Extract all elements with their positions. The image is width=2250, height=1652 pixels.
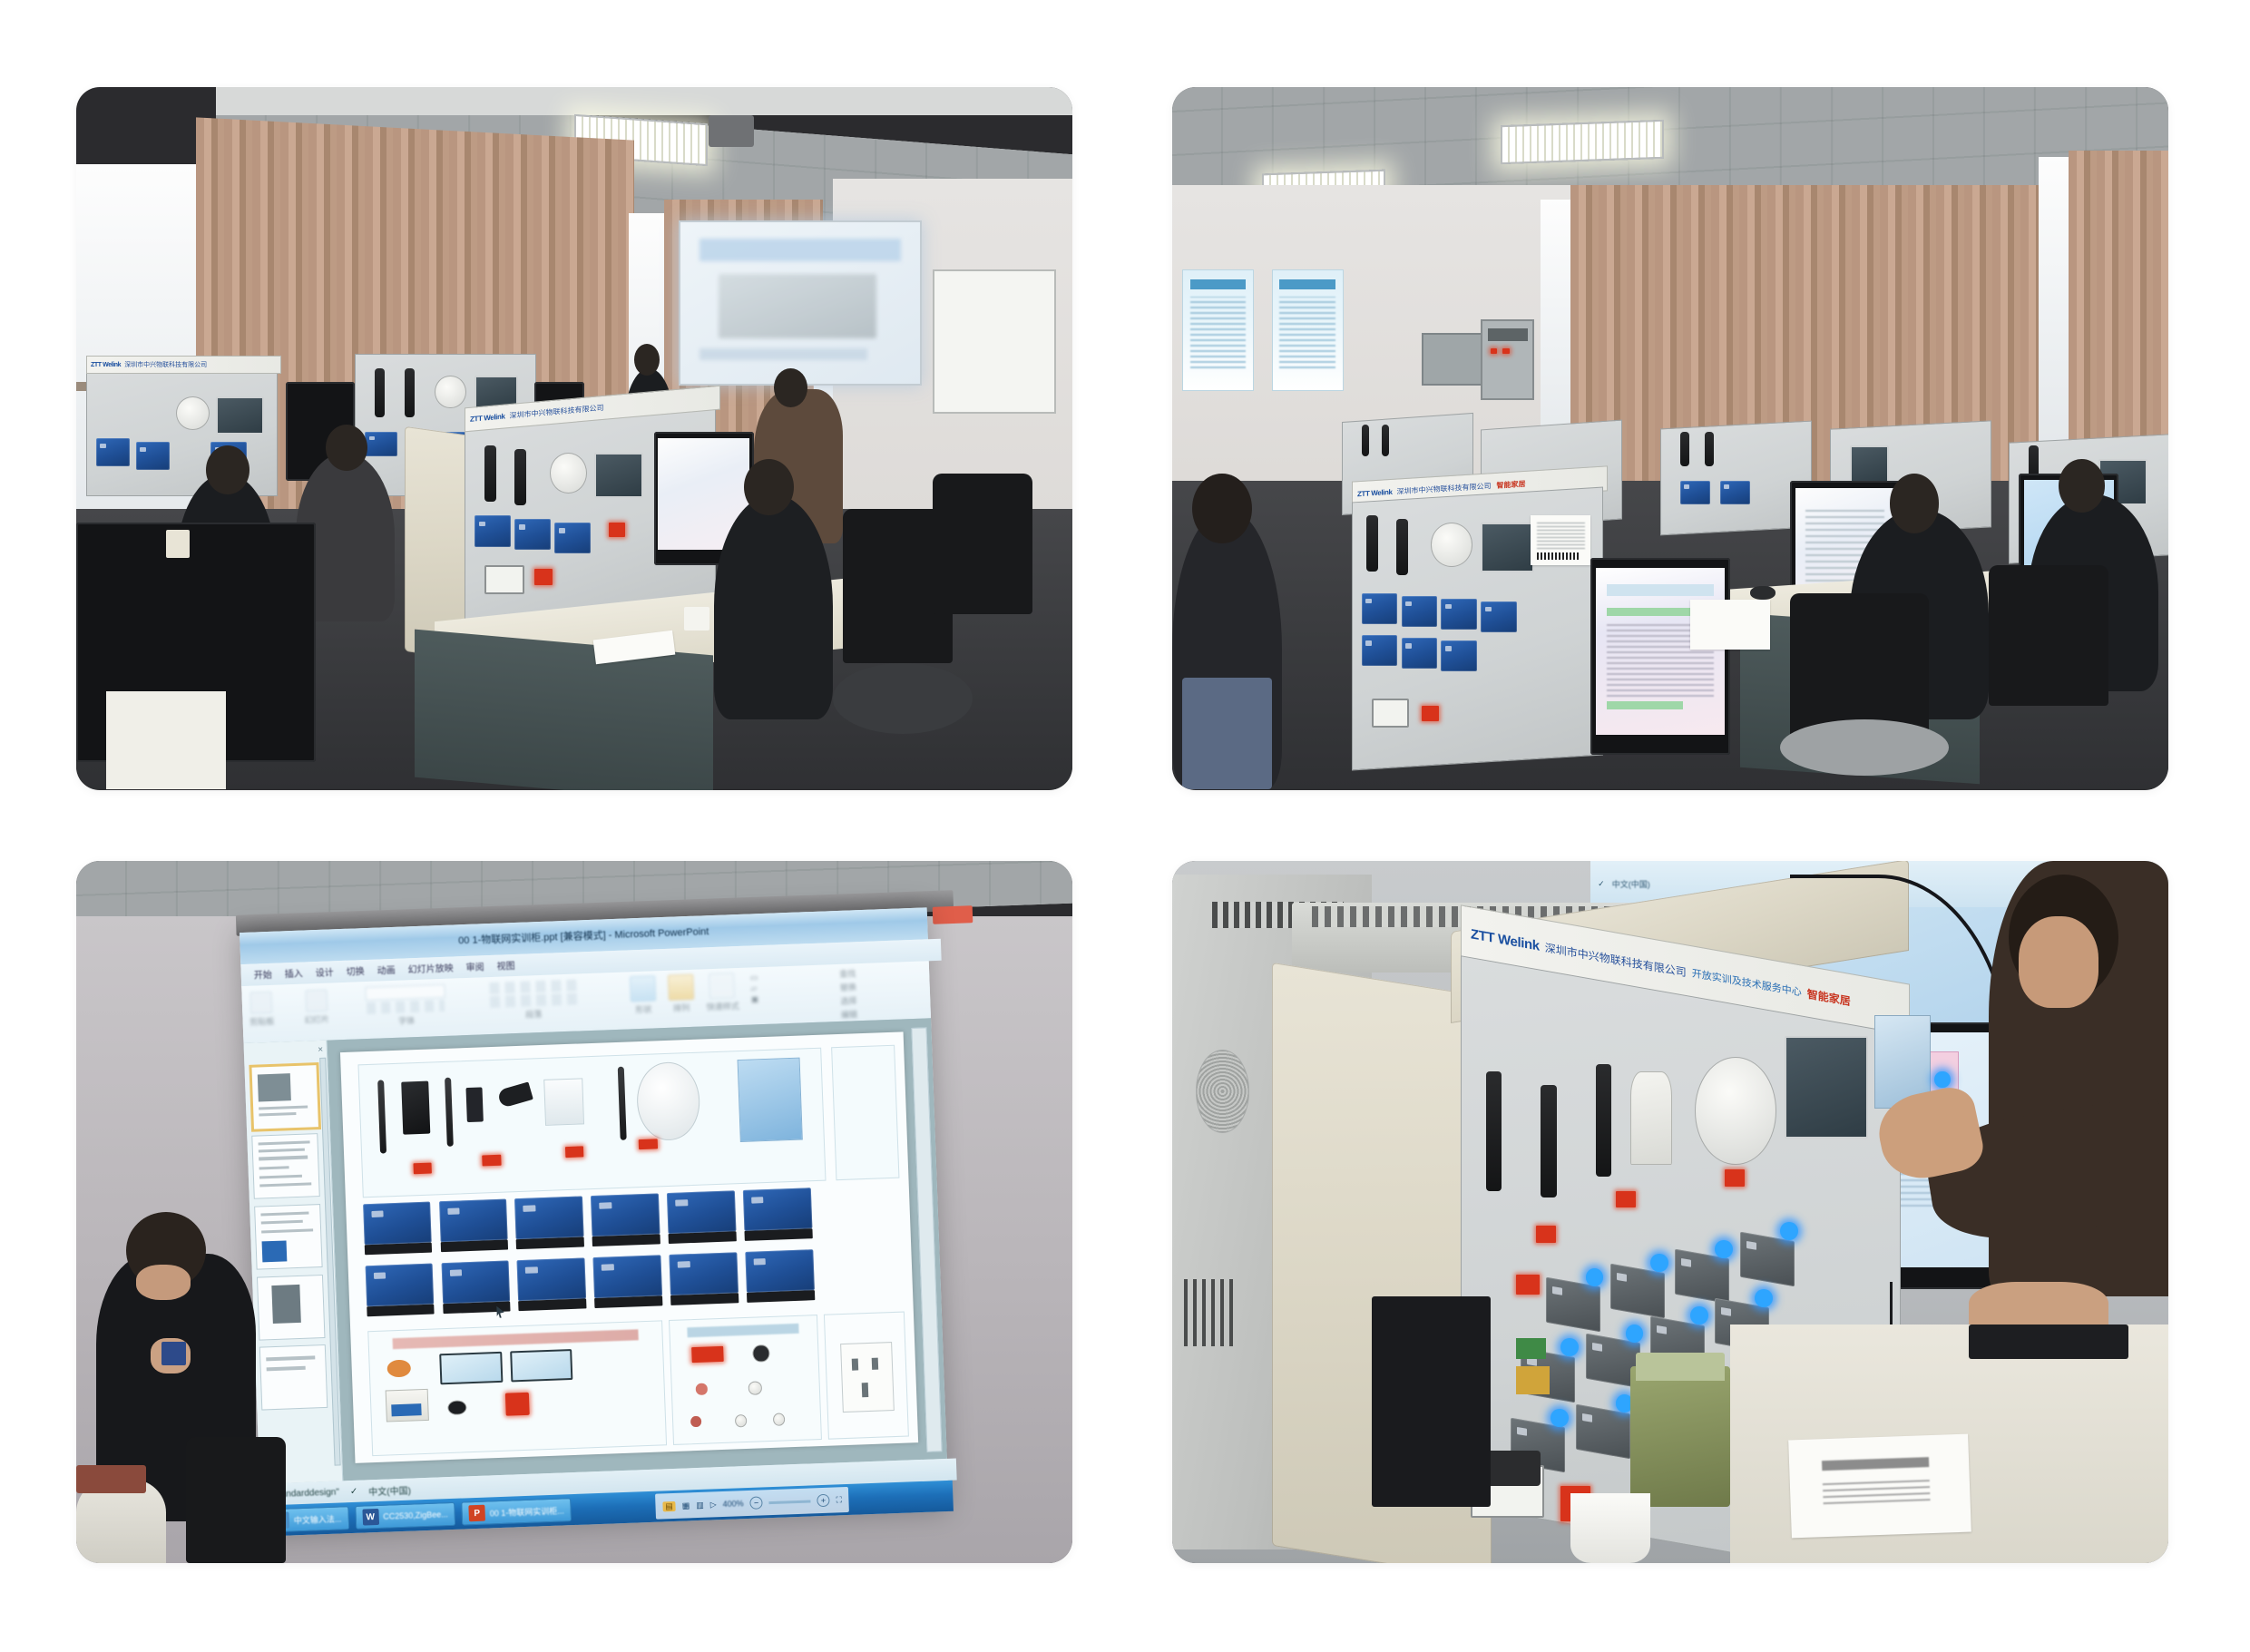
- led-indicator: [1780, 1222, 1798, 1240]
- thumbnail-image: [271, 1285, 301, 1324]
- digital-display: [691, 1346, 724, 1364]
- slide-socket-section: [824, 1312, 909, 1440]
- ribbon-button-arrange: 排列: [668, 974, 695, 1014]
- person-head: [1890, 474, 1940, 533]
- vent-slots: [1184, 1279, 1236, 1346]
- antenna-icon: [377, 1080, 386, 1154]
- thumbnail-text-line: [259, 1183, 311, 1188]
- sensor-module: [517, 1257, 586, 1301]
- wall-socket-icon: [840, 1343, 895, 1413]
- cabinet-lcd[interactable]: [594, 453, 644, 498]
- thumbnail-text-line: [259, 1141, 310, 1146]
- scene-projection-powerpoint: 00 1-物联网实训柜.ppt [兼容模式] - Microsoft Power…: [76, 861, 1072, 1564]
- cabinet-lcd[interactable]: [1850, 445, 1890, 484]
- antenna-icon: [375, 368, 385, 417]
- projection-screen: [679, 220, 922, 386]
- sensor-module[interactable]: [1402, 596, 1438, 627]
- thumbnail-text-line: [259, 1149, 305, 1153]
- brand-company: 深圳市中兴物联科技有限公司: [124, 360, 207, 369]
- poster-title: [1279, 279, 1335, 290]
- module-base: [745, 1229, 813, 1242]
- taskbar-item-label: CC2530,ZigBee...: [383, 1510, 448, 1521]
- office-chair: [933, 474, 1032, 614]
- slide-thumbnail[interactable]: [252, 1133, 320, 1199]
- monitor-screen: [1596, 568, 1724, 735]
- ceiling-light: [1501, 120, 1664, 164]
- led-indicator: [1650, 1254, 1668, 1272]
- smoke-detector-icon: [1695, 1057, 1776, 1164]
- module-marker: [1516, 1338, 1546, 1359]
- scene-lab-rows: ZTT Welink 深圳市中兴物联科技有限公司 智能家居: [1172, 87, 2168, 790]
- white-antenna-icon: [1630, 1071, 1672, 1165]
- wall-poster-right: [1272, 269, 1344, 391]
- new-slide-icon[interactable]: [305, 990, 328, 1012]
- led-indicator: [1725, 1169, 1745, 1187]
- photo-bottom-left[interactable]: 00 1-物联网实训柜.ppt [兼容模式] - Microsoft Power…: [76, 861, 1072, 1564]
- photo-top-right[interactable]: ZTT Welink 深圳市中兴物联科技有限公司 智能家居: [1172, 87, 2168, 790]
- module-marker: [1516, 1366, 1550, 1394]
- ribbon-button-label: 形状: [635, 1002, 651, 1015]
- ribbon-button-quickstyles: 快速样式: [706, 973, 740, 1012]
- thumbnail-text-line: [259, 1156, 308, 1160]
- sensor-module[interactable]: [1441, 640, 1477, 671]
- person-jeans: [1182, 678, 1272, 790]
- ribbon-group-paragraph: 段落: [489, 980, 578, 1022]
- knob-icon: [735, 1414, 748, 1428]
- sensor-module[interactable]: [1402, 638, 1438, 669]
- white-panel-icon: [544, 1079, 585, 1127]
- label-card: [1531, 515, 1590, 564]
- tab-review[interactable]: 审阅: [465, 960, 484, 974]
- sensor-module: [745, 1249, 814, 1293]
- antenna-icon: [405, 368, 415, 417]
- led-indicator: [413, 1163, 432, 1174]
- tab-insert[interactable]: 插入: [285, 966, 304, 981]
- touch-panel-icon: [738, 1058, 803, 1143]
- ribbon-group-label: 字体: [398, 1014, 415, 1027]
- poster-body: [1190, 297, 1246, 368]
- ribbon-group-label: 幻灯片: [305, 1013, 329, 1026]
- ribbon-group-label: 剪贴板: [249, 1015, 274, 1028]
- knob-icon: [748, 1382, 762, 1395]
- sensor-module[interactable]: [1362, 593, 1398, 624]
- analog-meter: [484, 565, 524, 594]
- ribbon-button-label: 排列: [673, 1002, 690, 1014]
- sensor-module[interactable]: [1362, 635, 1398, 666]
- status-ime: 中文(中国): [1612, 878, 1650, 890]
- document-sheet: [1788, 1433, 1971, 1538]
- led-indicator: [1586, 1268, 1604, 1286]
- slide-thumbnail[interactable]: [258, 1275, 326, 1341]
- indicator-lamp: [696, 1383, 708, 1395]
- antenna-icon: [514, 449, 526, 505]
- ribbon-group-label: 段落: [525, 1008, 542, 1021]
- label-text: [1537, 522, 1585, 549]
- status-ime[interactable]: 中文(中国): [368, 1483, 411, 1499]
- cabinet-brandbar-rear-left: ZTT Welink 深圳市中兴物联科技有限公司: [86, 356, 281, 375]
- led-indicator: [1516, 1275, 1540, 1295]
- person-face: [2019, 916, 2098, 1008]
- slide-thumbnail[interactable]: [255, 1204, 323, 1270]
- ribbon-button-replace[interactable]: 替换: [840, 982, 856, 994]
- thumbnail-text-line: [259, 1106, 308, 1110]
- sensor-module: [743, 1188, 812, 1231]
- shape-effects-row[interactable]: ▣: [751, 994, 759, 1005]
- taskbar-item-label: 中文输入法...: [294, 1512, 342, 1526]
- language-icon: ✓: [350, 1487, 358, 1497]
- chair-back: [76, 1465, 146, 1493]
- sensor-module: [441, 1260, 510, 1304]
- curtain: [2069, 151, 2168, 467]
- led-indicator: [639, 1139, 658, 1149]
- projection-screen: 00 1-物联网实训柜.ppt [兼容模式] - Microsoft Power…: [240, 908, 949, 1537]
- antenna-icon: [1596, 1064, 1612, 1177]
- module-base: [365, 1243, 433, 1256]
- brand-latin: ZTT Welink: [470, 412, 505, 423]
- knob-icon: [447, 1400, 467, 1416]
- thumbnail-text-line: [261, 1211, 309, 1216]
- module-base: [592, 1235, 660, 1247]
- tab-view[interactable]: 视图: [496, 958, 515, 973]
- view-slideshow-icon[interactable]: ▷: [710, 1500, 717, 1510]
- water-bottle: [1630, 1366, 1730, 1507]
- shapes-icon[interactable]: [630, 975, 656, 1002]
- antenna-icon: [1486, 1071, 1502, 1191]
- led-indicator: [534, 569, 553, 586]
- slide-side-strip: [831, 1045, 900, 1180]
- wall-poster-left: [1182, 269, 1254, 391]
- antenna-icon: [445, 1078, 454, 1146]
- thumbnail-text-line: [259, 1112, 297, 1117]
- taskbar-item-powerpoint[interactable]: P 00 1-物联网实训柜...: [461, 1498, 572, 1526]
- chair-base: [833, 663, 973, 733]
- socket-hole: [872, 1358, 878, 1371]
- slide-thumbnail[interactable]: [249, 1062, 322, 1132]
- poster-title: [1190, 279, 1246, 290]
- antenna-icon: [618, 1067, 627, 1140]
- sensor-module: [515, 1197, 584, 1240]
- monitor-center[interactable]: [1590, 558, 1730, 755]
- led-indicator: [565, 1147, 584, 1158]
- slide-control-section-right: [669, 1315, 821, 1445]
- slide-thumbnail-pane[interactable]: ×: [244, 1041, 344, 1484]
- zoom-in-button[interactable]: +: [817, 1494, 830, 1508]
- whiteboard: [933, 269, 1056, 414]
- smoke-detector-icon: [1431, 523, 1472, 566]
- sensor-module[interactable]: [1441, 599, 1477, 630]
- person-face: [136, 1265, 191, 1300]
- antenna-icon: [1366, 515, 1378, 572]
- socket-hole: [862, 1383, 869, 1398]
- panel-display: [1488, 328, 1528, 341]
- screen-toolbar: [1607, 584, 1715, 596]
- sensor-module: [365, 1263, 434, 1306]
- view-sorter-icon[interactable]: ▦: [682, 1500, 690, 1510]
- ribbon-drawing-tools: ▭ ▱ ▣: [750, 973, 759, 1005]
- projection-slide-image: [719, 274, 876, 338]
- led-indicator: [1755, 1289, 1773, 1307]
- sensor-module[interactable]: [474, 515, 511, 546]
- tab-home[interactable]: 开始: [254, 967, 273, 982]
- person-head: [326, 425, 367, 471]
- module-base: [516, 1237, 584, 1250]
- paper-sheet: [1690, 600, 1770, 649]
- knob-icon: [773, 1413, 786, 1426]
- led-indicator: [609, 523, 625, 536]
- view-zoom-controls[interactable]: ▤ ▦ ▥ ▷ 400% − + ⛶: [655, 1487, 850, 1520]
- zoom-slider[interactable]: [769, 1500, 811, 1504]
- bent-antenna-icon: [496, 1082, 533, 1109]
- monitor-foreground[interactable]: [1372, 1296, 1492, 1507]
- sensor-module: [667, 1190, 736, 1234]
- section-title-right: [688, 1324, 799, 1337]
- paragraph-buttons-row1[interactable]: [489, 980, 576, 995]
- breaker-toggle: [392, 1404, 422, 1416]
- ribbon-group-label: 编辑: [841, 1009, 857, 1022]
- brand-company: 深圳市中兴物联科技有限公司: [510, 403, 604, 421]
- scene-cabinet-operation: ✓ 中文(中国) W CC2530,ZigBee...: [1172, 861, 2168, 1564]
- document-title: [1821, 1457, 1929, 1471]
- emergency-stop-button: [505, 1393, 530, 1415]
- person-head: [744, 459, 794, 515]
- screen-end-cap: [933, 905, 973, 924]
- sensor-module[interactable]: [554, 523, 591, 553]
- sensor-module[interactable]: [1680, 481, 1710, 504]
- module-base: [670, 1293, 739, 1305]
- view-reading-icon[interactable]: ▥: [696, 1500, 704, 1510]
- display-panel: [510, 1349, 573, 1382]
- led-indicator: [1715, 1240, 1733, 1258]
- person-head: [1192, 474, 1252, 543]
- zoom-out-button[interactable]: −: [750, 1497, 764, 1510]
- brand-badge: 智能家居: [1496, 479, 1525, 491]
- paper-cup: [684, 607, 710, 630]
- antenna-icon: [1396, 519, 1408, 575]
- antenna-icon: [1362, 425, 1370, 456]
- poster-body: [1279, 297, 1335, 368]
- quick-styles-icon[interactable]: [709, 973, 736, 999]
- chair-base: [1780, 719, 1950, 776]
- sensor-module[interactable]: [365, 432, 396, 457]
- taskbar-item-label: 00 1-物联网实训柜...: [490, 1504, 564, 1519]
- ribbon-button-select[interactable]: 选择: [840, 995, 856, 1008]
- ceiling-edge: [216, 87, 1072, 115]
- module-box-icon: [465, 1088, 484, 1122]
- person-seated-front: [714, 494, 834, 719]
- section-title-left: [392, 1330, 639, 1350]
- sensor-module: [593, 1255, 662, 1298]
- thumbnail-image: [262, 1241, 288, 1263]
- sensor-module: [363, 1202, 432, 1246]
- paragraph-buttons-row2[interactable]: [490, 993, 577, 1009]
- person-head: [774, 368, 807, 407]
- tab-slideshow[interactable]: 幻灯片放映: [408, 961, 455, 976]
- bottle-cap: [1636, 1353, 1726, 1381]
- cabinet-lcd[interactable]: [216, 396, 264, 435]
- indicator-lamp: [690, 1416, 701, 1428]
- editing-area: ×: [244, 1018, 947, 1484]
- led-indicator: [482, 1155, 501, 1166]
- module-base: [747, 1290, 815, 1303]
- led-indicator: [1690, 1306, 1708, 1325]
- led-indicator: [1422, 706, 1440, 721]
- zoom-level-label: 400%: [723, 1500, 744, 1510]
- brand-subtitle: 开放实训及技术服务中心: [1692, 966, 1802, 1000]
- cabinet-dial[interactable]: [550, 453, 588, 494]
- thumbnail-text-line: [261, 1220, 302, 1225]
- desk-foreground: [106, 691, 226, 789]
- thumbnail-image: [258, 1074, 291, 1102]
- brand-latin: ZTT Welink: [1471, 926, 1540, 953]
- sensor-module: [591, 1193, 660, 1237]
- scene-classroom-projector: ZTT Welink 深圳市中兴物联科技有限公司: [76, 87, 1072, 790]
- ribbon-group-slides: 幻灯片: [304, 990, 329, 1026]
- projection-caption-line: [699, 348, 866, 359]
- fit-to-window-icon[interactable]: ⛶: [836, 1495, 843, 1505]
- analog-meter: [1372, 699, 1409, 728]
- thumbnail-text-line: [267, 1366, 306, 1371]
- shape-outline-row[interactable]: ▱: [750, 983, 758, 994]
- office-chair: [186, 1437, 286, 1563]
- module-base: [595, 1295, 663, 1308]
- thumbnail-text-line: [261, 1228, 313, 1233]
- arrange-icon[interactable]: [668, 974, 694, 1001]
- smoke-detector-icon: [636, 1061, 700, 1141]
- font-style-buttons[interactable]: [367, 1000, 445, 1014]
- ribbon-button-label: 快速样式: [707, 1000, 739, 1012]
- module-base: [519, 1299, 587, 1312]
- word-icon: W: [362, 1509, 379, 1526]
- barcode-icon: [1537, 552, 1579, 561]
- thumbnail-text-line: [267, 1356, 316, 1361]
- antenna-icon: [1705, 432, 1714, 467]
- led-indicator: [1616, 1191, 1636, 1208]
- thumbnail-text-line: [259, 1175, 302, 1179]
- socket-hole: [852, 1359, 858, 1372]
- clipboard-icon[interactable]: [250, 992, 273, 1014]
- office-chair: [1989, 565, 2108, 706]
- brand-latin: ZTT Welink: [91, 362, 121, 368]
- window-title: 00 1-物联网实训柜.ppt [兼容模式] - Microsoft Power…: [458, 924, 709, 948]
- projection-title-line: [699, 239, 900, 261]
- ribbon-group-editing: 查找 替换 选择 编辑: [839, 968, 857, 1022]
- person-head: [206, 445, 249, 494]
- led-indicator: [1551, 1409, 1569, 1427]
- knob-icon: [753, 1344, 770, 1363]
- slide-thumbnail[interactable]: [259, 1345, 328, 1412]
- speaker-grille-icon: [1196, 1050, 1249, 1132]
- sensor-module[interactable]: [514, 519, 551, 550]
- sensor-module[interactable]: [1720, 481, 1750, 504]
- tab-transitions[interactable]: 切换: [347, 964, 366, 979]
- photo-top-left[interactable]: ZTT Welink 深圳市中兴物联科技有限公司: [76, 87, 1072, 790]
- document-body: [1822, 1476, 1930, 1503]
- view-normal-icon[interactable]: ▤: [662, 1501, 676, 1512]
- led-indicator: [1536, 1226, 1556, 1243]
- led-indicator: [1626, 1325, 1644, 1343]
- person-head: [2059, 459, 2105, 513]
- sensor-module[interactable]: [1481, 601, 1517, 632]
- display-panel: [440, 1352, 504, 1384]
- indicator-lamp: [387, 1360, 412, 1378]
- language-icon: ✓: [1598, 879, 1605, 889]
- ribbon-button-find[interactable]: 查找: [839, 968, 856, 981]
- slide-device-strip: [357, 1048, 826, 1197]
- sensor-module[interactable]: [96, 438, 130, 466]
- screen-highlight-row: [1607, 701, 1684, 709]
- powerpoint-icon: P: [469, 1505, 486, 1522]
- fire-alarm-panel[interactable]: [1481, 319, 1534, 400]
- font-name-box[interactable]: [366, 984, 445, 1001]
- ribbon-button-shapes: 形状: [630, 975, 657, 1015]
- sensor-module[interactable]: [136, 442, 170, 470]
- paper-cup: [166, 530, 190, 558]
- module-base: [440, 1240, 508, 1253]
- close-icon[interactable]: ×: [318, 1045, 323, 1055]
- cabinet-dial[interactable]: [176, 396, 210, 431]
- brand-latin: ZTT Welink: [1357, 488, 1393, 498]
- gateway-module-icon: [401, 1081, 431, 1135]
- tab-design[interactable]: 设计: [316, 965, 335, 980]
- ribbon-group-font: 字体: [366, 984, 447, 1028]
- shape-fill-row[interactable]: ▭: [750, 973, 758, 983]
- antenna-icon: [484, 445, 496, 502]
- projector: [709, 115, 753, 147]
- module-base: [367, 1305, 435, 1317]
- tab-animations[interactable]: 动画: [377, 963, 396, 977]
- paper-cup: [1570, 1493, 1650, 1563]
- ribbon-group-clipboard: 剪贴板: [249, 992, 274, 1028]
- led-indicator: [1491, 348, 1498, 354]
- thumbnail-text-line: [259, 1167, 289, 1171]
- antenna-icon: [1382, 425, 1390, 456]
- module-base: [669, 1232, 737, 1245]
- antenna-icon: [1680, 432, 1689, 467]
- photo-collage: ZTT Welink 深圳市中兴物联科技有限公司: [0, 0, 2250, 1652]
- led-indicator: [1502, 348, 1510, 354]
- sensor-module: [670, 1252, 739, 1295]
- cabinet-lcd[interactable]: [1481, 523, 1534, 572]
- sensor-module: [439, 1199, 508, 1243]
- taskbar-item-word[interactable]: W CC2530,ZigBee...: [355, 1502, 455, 1530]
- slide-control-section-left: [367, 1321, 667, 1456]
- antenna-icon: [1541, 1085, 1557, 1197]
- wall-display-box: [1422, 333, 1485, 386]
- cable-bundle: [1969, 1325, 2128, 1360]
- mobile-phone-icon: [161, 1342, 185, 1365]
- photo-bottom-right[interactable]: ✓ 中文(中国) W CC2530,ZigBee...: [1172, 861, 2168, 1564]
- slide-canvas[interactable]: [340, 1032, 918, 1463]
